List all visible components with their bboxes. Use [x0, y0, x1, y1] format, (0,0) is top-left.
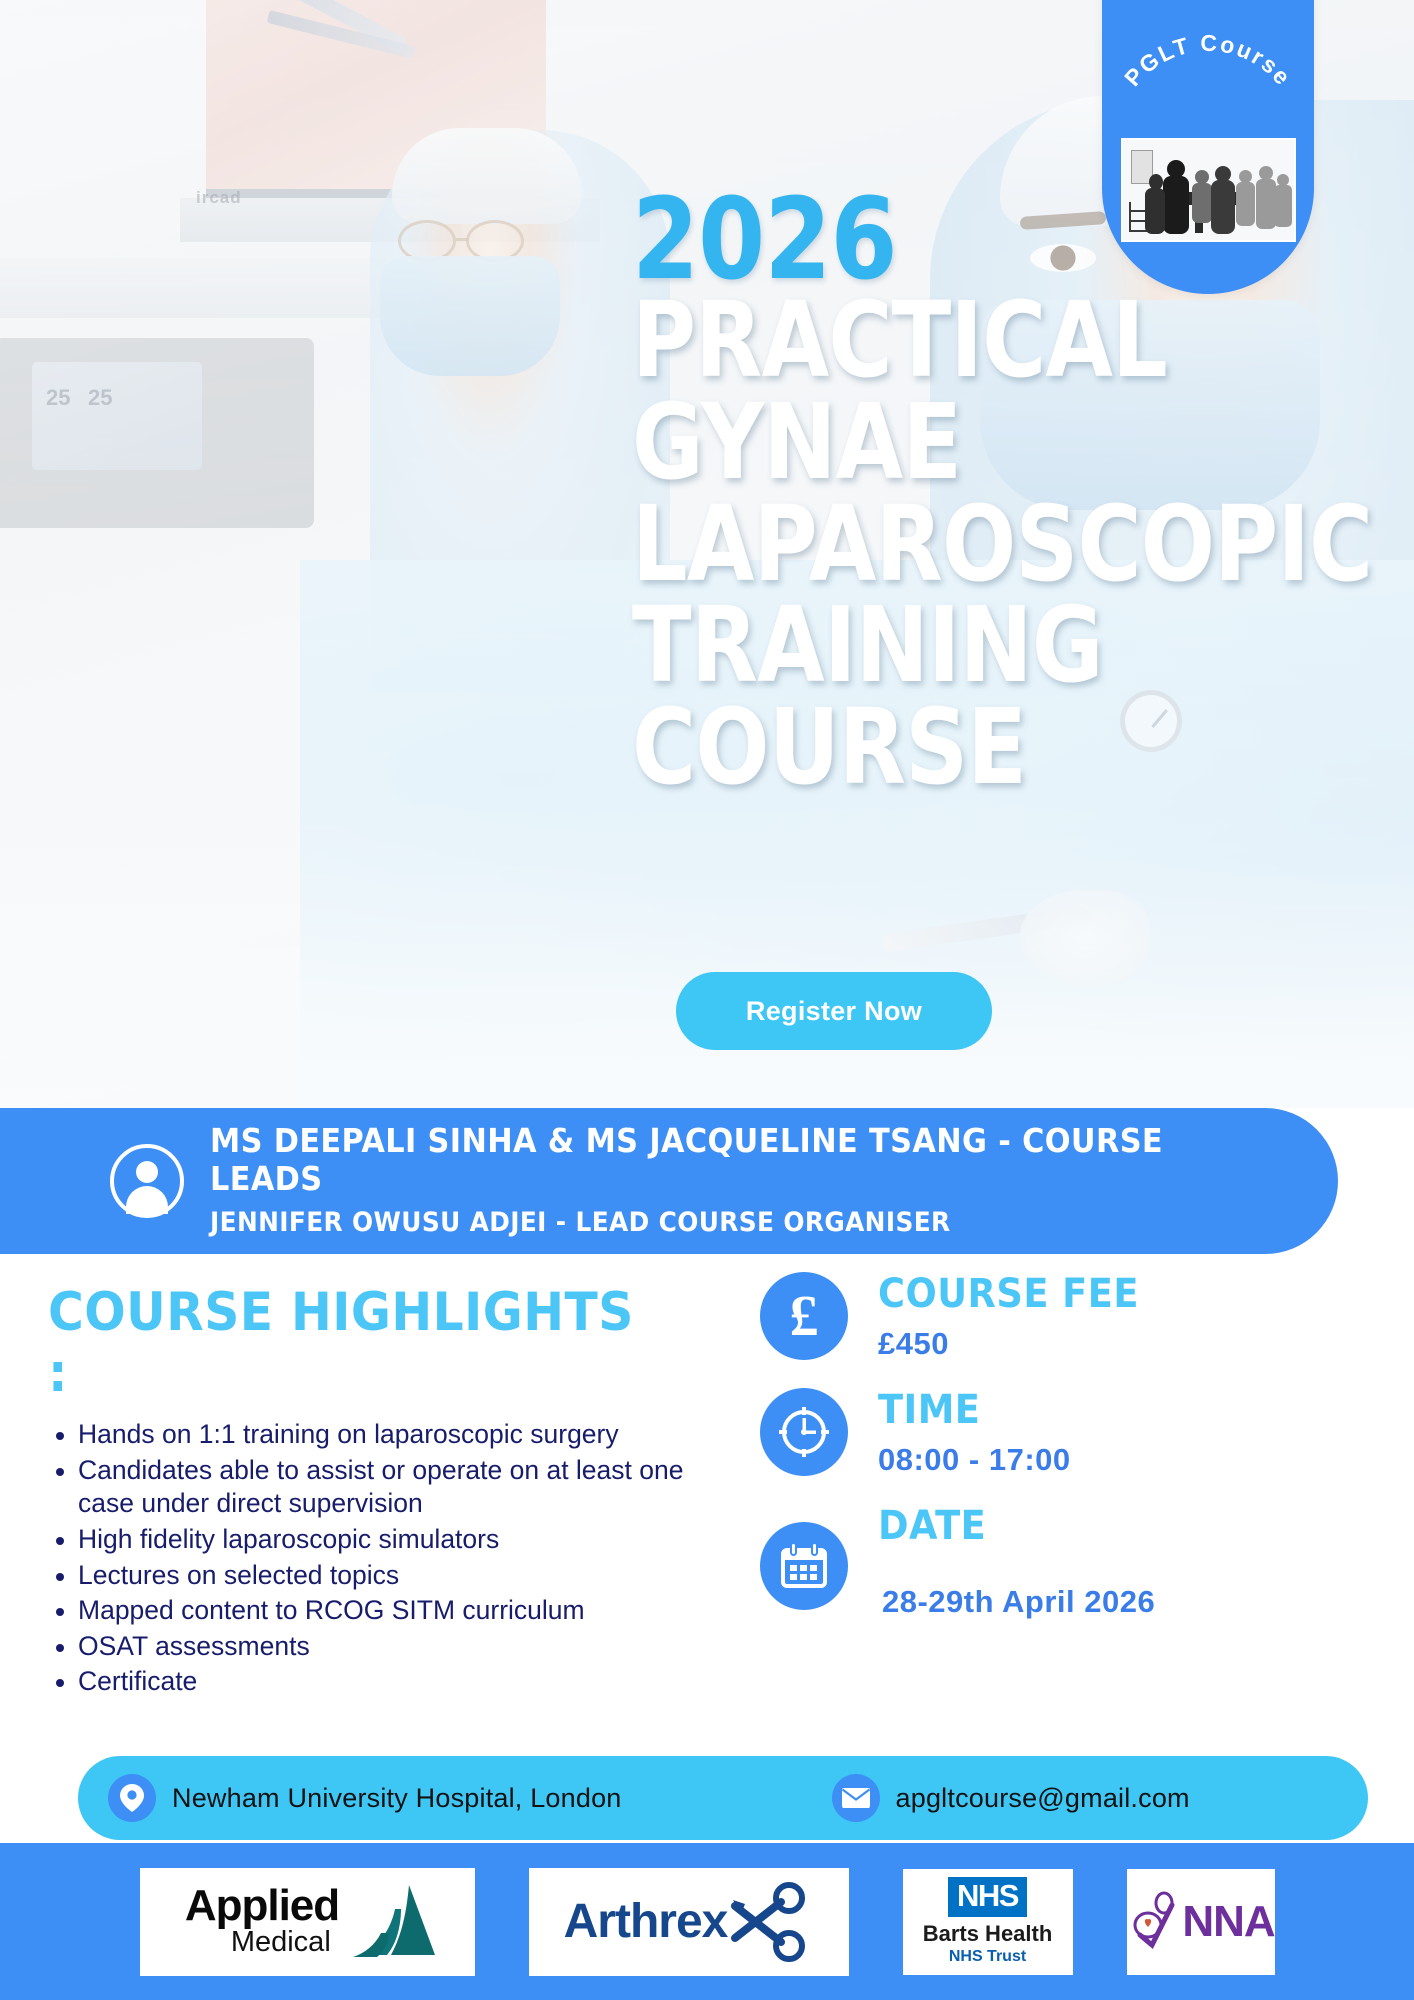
- list-item: Mapped content to RCOG SITM curriculum: [48, 1594, 688, 1628]
- logo-nna: NNA: [1127, 1869, 1275, 1975]
- course-highlights-block: COURSE HIGHLIGHTS : Hands on 1:1 trainin…: [48, 1282, 688, 1701]
- location-text: Newham University Hospital, London: [172, 1783, 622, 1814]
- title-line-4: TRAINING: [632, 599, 1289, 693]
- course-time-row: TIME 08:00 - 17:00: [760, 1388, 1360, 1478]
- course-organiser-name: JENNIFER OWUSU ADJEI - LEAD COURSE ORGAN…: [210, 1205, 1248, 1240]
- title-line-5: COURSE: [632, 701, 1289, 795]
- logo-nhs-barts-health: NHS Barts Health NHS Trust: [903, 1869, 1073, 1975]
- list-item: OSAT assessments: [48, 1630, 688, 1664]
- course-leads-banner: MS DEEPALI SINHA & MS JACQUELINE TSANG -…: [0, 1108, 1338, 1254]
- course-fee-label: COURSE FEE: [878, 1274, 1321, 1314]
- applied-medical-sub: Medical: [231, 1928, 339, 1957]
- list-item: Certificate: [48, 1665, 688, 1699]
- applied-sail-icon: [351, 1883, 437, 1961]
- logo-arthrex: Arthrex: [529, 1868, 849, 1976]
- email-text[interactable]: apgltcourse@gmail.com: [896, 1783, 1190, 1814]
- nna-name: NNA: [1182, 1897, 1274, 1947]
- register-now-button[interactable]: Register Now: [676, 972, 992, 1050]
- arthrex-scissors-icon: [729, 1880, 813, 1964]
- title-line-3: LAPAROSCOPIC: [632, 498, 1289, 592]
- badge-arc-text: PGLT Course: [1102, 10, 1314, 130]
- nna-heart-tick-icon: [1127, 1891, 1189, 1953]
- email-item[interactable]: apgltcourse@gmail.com: [832, 1774, 1190, 1822]
- course-fee-value: £450: [878, 1326, 1360, 1362]
- list-item: Hands on 1:1 training on laparoscopic su…: [48, 1418, 688, 1452]
- course-info-block: £ COURSE FEE £450: [760, 1272, 1360, 1646]
- highlights-list: Hands on 1:1 training on laparoscopic su…: [48, 1418, 688, 1699]
- sponsor-logos-bar: Applied Medical Arthrex NHS Barts Health…: [0, 1843, 1414, 2000]
- course-fee-row: £ COURSE FEE £450: [760, 1272, 1360, 1362]
- location-pin-icon: [108, 1774, 156, 1822]
- calendar-icon: [760, 1522, 848, 1610]
- title-line-2: GYNAE: [632, 396, 1289, 490]
- list-item: Candidates able to assist or operate on …: [48, 1454, 688, 1521]
- course-time-value: 08:00 - 17:00: [878, 1442, 1360, 1478]
- title-line-1: PRACTICAL: [632, 294, 1289, 388]
- nhs-trust-text: NHS Trust: [923, 1948, 1053, 1966]
- contact-bar: Newham University Hospital, London apglt…: [78, 1756, 1368, 1840]
- course-date-row: DATE 28-29th April 2026: [760, 1504, 1360, 1620]
- list-item: High fidelity laparoscopic simulators: [48, 1523, 688, 1557]
- logo-applied-medical: Applied Medical: [140, 1868, 475, 1976]
- badge-illustration-icon: [1121, 138, 1296, 242]
- envelope-icon: [832, 1774, 880, 1822]
- arthrex-name: Arthrex: [564, 1894, 728, 1949]
- list-item: Lectures on selected topics: [48, 1559, 688, 1593]
- course-date-label: DATE: [878, 1506, 1321, 1546]
- clock-icon: [760, 1388, 848, 1476]
- main-content: COURSE HIGHLIGHTS : Hands on 1:1 trainin…: [0, 1254, 1414, 1744]
- barts-health-text: Barts Health: [923, 1921, 1053, 1947]
- pglt-course-badge: PGLT Course: [1102, 0, 1314, 294]
- course-date-value: 28-29th April 2026: [882, 1584, 1360, 1620]
- course-time-label: TIME: [878, 1390, 1321, 1430]
- svg-text:PGLT Course: PGLT Course: [1119, 30, 1297, 91]
- applied-medical-name: Applied: [185, 1886, 339, 1926]
- badge-label: PGLT Course: [1119, 30, 1297, 91]
- highlights-title: COURSE HIGHLIGHTS :: [48, 1282, 637, 1404]
- location-item: Newham University Hospital, London: [108, 1774, 622, 1822]
- person-icon: [110, 1144, 184, 1218]
- course-leads-names: MS DEEPALI SINHA & MS JACQUELINE TSANG -…: [210, 1122, 1248, 1199]
- pound-icon: £: [760, 1272, 848, 1360]
- nhs-logo-text: NHS: [948, 1877, 1027, 1917]
